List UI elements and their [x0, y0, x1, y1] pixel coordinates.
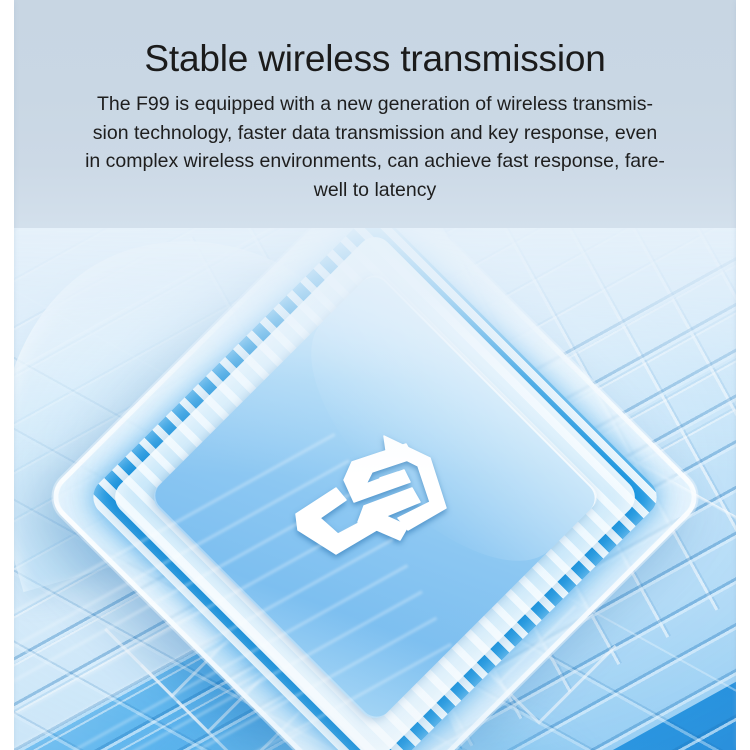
page-title: Stable wireless transmission — [14, 40, 736, 79]
product-banner: Stable wireless transmission The F99 is … — [0, 0, 750, 750]
right-edge-rail — [736, 0, 750, 750]
banner-header: Stable wireless transmission The F99 is … — [14, 0, 736, 228]
product-photo — [14, 222, 736, 750]
banner-description-line: sion technology, faster data transmissio… — [40, 119, 710, 148]
banner-description-line: well to latency — [40, 176, 710, 205]
banner-description-line: The F99 is equipped with a new generatio… — [40, 90, 710, 119]
banner-description: The F99 is equipped with a new generatio… — [40, 90, 710, 205]
left-edge-rail — [0, 0, 14, 750]
aula-brand-logo-icon — [280, 422, 470, 572]
banner-description-line: in complex wireless environments, can ac… — [40, 147, 710, 176]
